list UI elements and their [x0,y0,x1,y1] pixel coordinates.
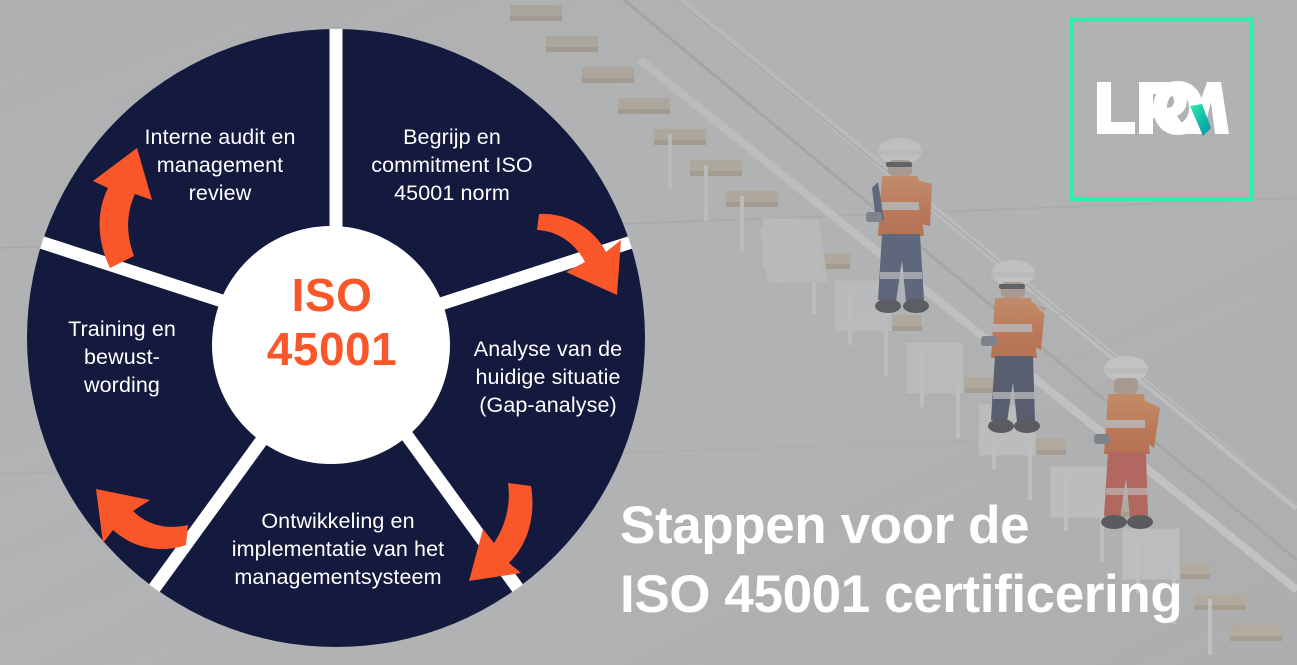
wheel-center-line1: ISO [292,269,373,321]
lrqa-logo-mark [1095,78,1229,140]
segment-label-begrijp: Begrijp en commitment ISO 45001 norm [352,124,552,208]
segment-label-interne-audit: Interne audit en management review [120,124,320,208]
wheel-center-line2: 45001 [213,322,451,376]
segment-label-training: Training en bewust- wording [32,316,212,400]
lrqa-logo [1070,17,1254,201]
headline-line-1: Stappen voor de [620,492,1290,561]
segment-label-ontwikkeling: Ontwikkeling en implementatie van het ma… [205,508,471,592]
wheel-center-text: ISO 45001 [213,268,451,377]
segment-label-analyse: Analyse van de huidige situatie (Gap-ana… [450,336,646,420]
headline: Stappen voor de ISO 45001 certificering [620,492,1290,630]
headline-line-2: ISO 45001 certificering [620,561,1290,630]
